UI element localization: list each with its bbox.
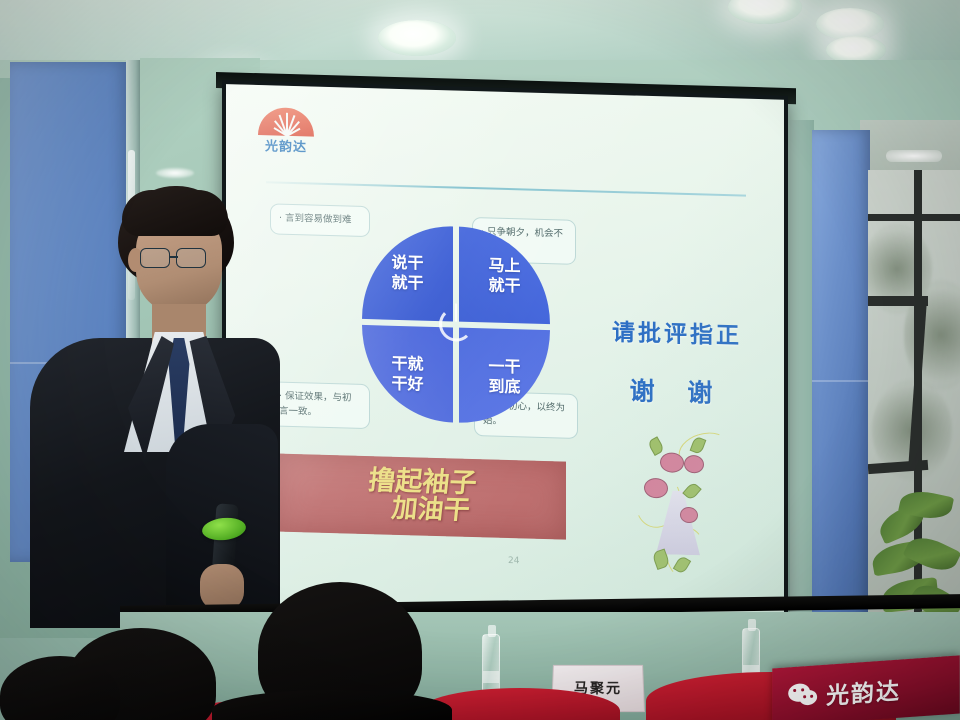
glasses-icon bbox=[140, 248, 170, 268]
blue-column-right bbox=[812, 130, 870, 630]
action-quadrant-wheel: 说干 就干 马上 就干 干就 干好 一干 到底 bbox=[362, 224, 550, 425]
watermark-text: 光韵达 bbox=[826, 672, 901, 711]
logo-sun-shape bbox=[258, 107, 314, 137]
slide-page-number: 24 bbox=[508, 556, 519, 566]
water-bottle bbox=[482, 634, 500, 692]
projection-screen-frame: 光韵达 · 言到容易做到难 · 只争朝夕，机会不等人。 · 保证效果，与初言一致… bbox=[222, 80, 788, 636]
projection-screen: 光韵达 · 言到容易做到难 · 只争朝夕，机会不等人。 · 保证效果，与初言一致… bbox=[226, 84, 784, 622]
plant-leaf bbox=[902, 530, 960, 578]
ceiling-downlight bbox=[886, 150, 942, 162]
presenter-hair-front bbox=[122, 190, 228, 236]
flower-bloom bbox=[684, 455, 704, 474]
column-edge-right bbox=[790, 120, 814, 640]
quadrant-label: 说干 就干 bbox=[391, 253, 423, 292]
quadrant-bottom-left: 干就 干好 bbox=[362, 325, 453, 423]
flower-bloom bbox=[644, 478, 668, 499]
window-transom bbox=[868, 214, 960, 221]
ceiling-downlight bbox=[816, 8, 884, 40]
glasses-icon bbox=[176, 248, 206, 268]
flower-leaf bbox=[647, 436, 665, 456]
wechat-icon bbox=[788, 682, 818, 708]
slide-divider bbox=[266, 181, 746, 196]
quadrant-top-left: 说干 就干 bbox=[362, 224, 453, 322]
presenter bbox=[0, 186, 300, 626]
quadrant-label: 干就 干好 bbox=[391, 354, 423, 393]
ribbon-curl bbox=[674, 427, 734, 474]
quadrant-bottom-right: 一干 到底 bbox=[459, 328, 550, 426]
glasses-bridge bbox=[170, 256, 178, 258]
wechat-bubble-small bbox=[799, 689, 817, 705]
slide-thanks-text: 谢 谢 bbox=[582, 370, 772, 411]
wall-light bbox=[156, 168, 194, 178]
flower-bloom bbox=[680, 507, 698, 524]
quadrant-label: 一干 到底 bbox=[488, 357, 520, 396]
slide-right-title: 请批评指正 bbox=[582, 312, 772, 351]
calligraphy-banner: 撸起袖子 加油干 bbox=[276, 454, 566, 540]
logo-brand-text: 光韵达 bbox=[254, 135, 318, 156]
sunrise-logo-icon: 光韵达 bbox=[254, 107, 318, 165]
quadrant-label: 马上 就干 bbox=[488, 256, 520, 295]
bottle-label bbox=[483, 671, 499, 683]
flower-bloom bbox=[660, 452, 684, 473]
photo-scene: 光韵达 · 言到容易做到难 · 只争朝夕，机会不等人。 · 保证效果，与初言一致… bbox=[0, 0, 960, 720]
ceiling-downlight bbox=[378, 20, 456, 56]
banner-line-2: 加油干 bbox=[386, 496, 475, 526]
quadrant-top-right: 马上 就干 bbox=[459, 227, 550, 325]
bouquet-flowers-icon bbox=[626, 429, 736, 582]
presenter-hand bbox=[200, 564, 244, 610]
flower-leaf bbox=[682, 481, 701, 501]
rotate-arrow-icon bbox=[439, 307, 473, 342]
banner-text: 撸起袖子 加油干 bbox=[364, 467, 478, 525]
